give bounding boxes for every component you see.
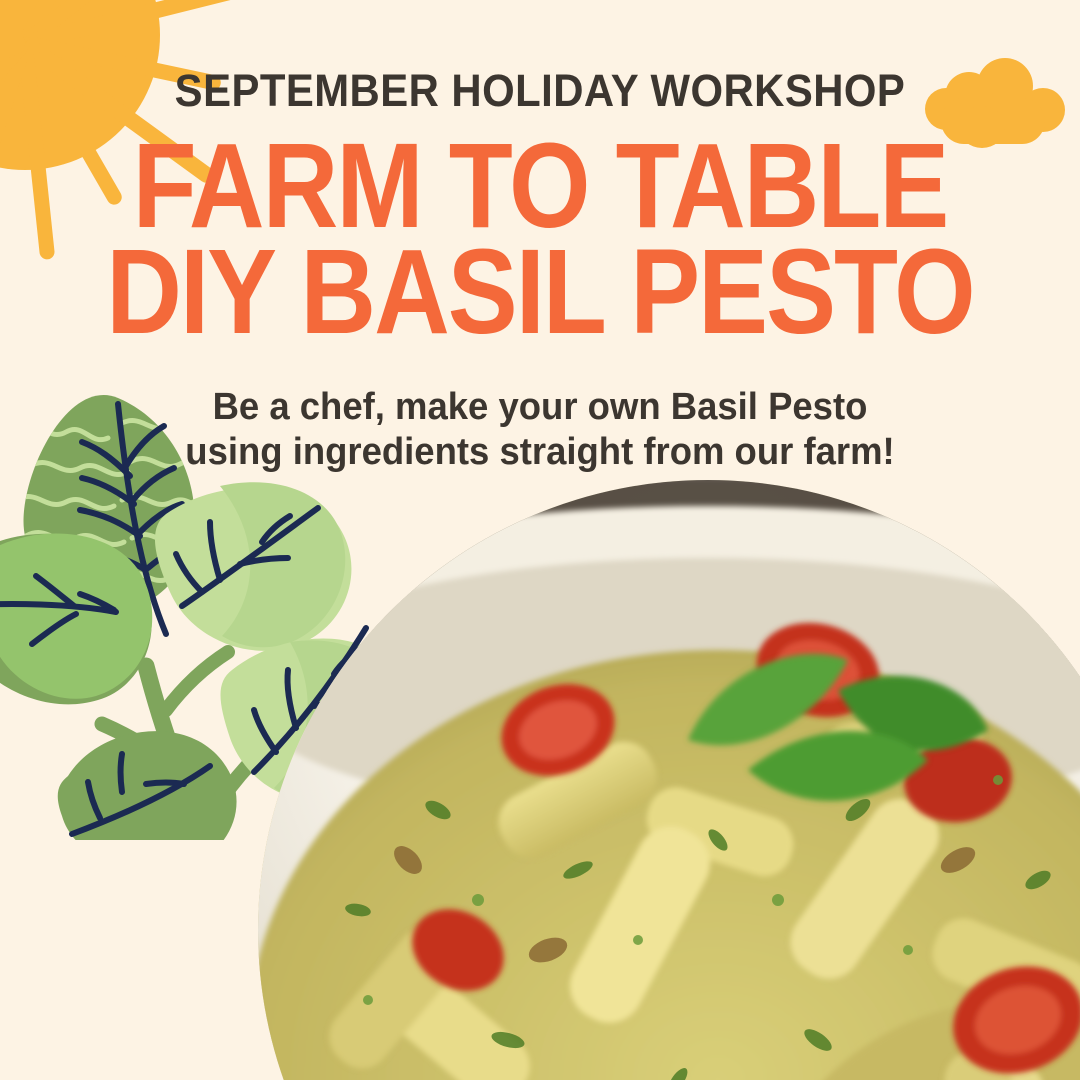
subtitle: Be a chef, make your own Basil Pesto usi… (22, 339, 1059, 475)
eyebrow-label: SEPTEMBER HOLIDAY WORKSHOP (38, 0, 1042, 113)
poster-canvas: SEPTEMBER HOLIDAY WORKSHOP FARM TO TABLE… (0, 0, 1080, 1080)
basil-leaf-bottom (58, 731, 237, 840)
subtitle-line-2: using ingredients straight from our farm… (22, 430, 1059, 475)
pesto-pasta-photo (258, 480, 1080, 1080)
subtitle-line-1: Be a chef, make your own Basil Pesto (22, 385, 1059, 430)
page-title-line-2: DIY BASIL PESTO (16, 226, 1064, 346)
text-block: SEPTEMBER HOLIDAY WORKSHOP FARM TO TABLE… (0, 0, 1080, 475)
page-title-line-1: FARM TO TABLE (16, 106, 1064, 239)
